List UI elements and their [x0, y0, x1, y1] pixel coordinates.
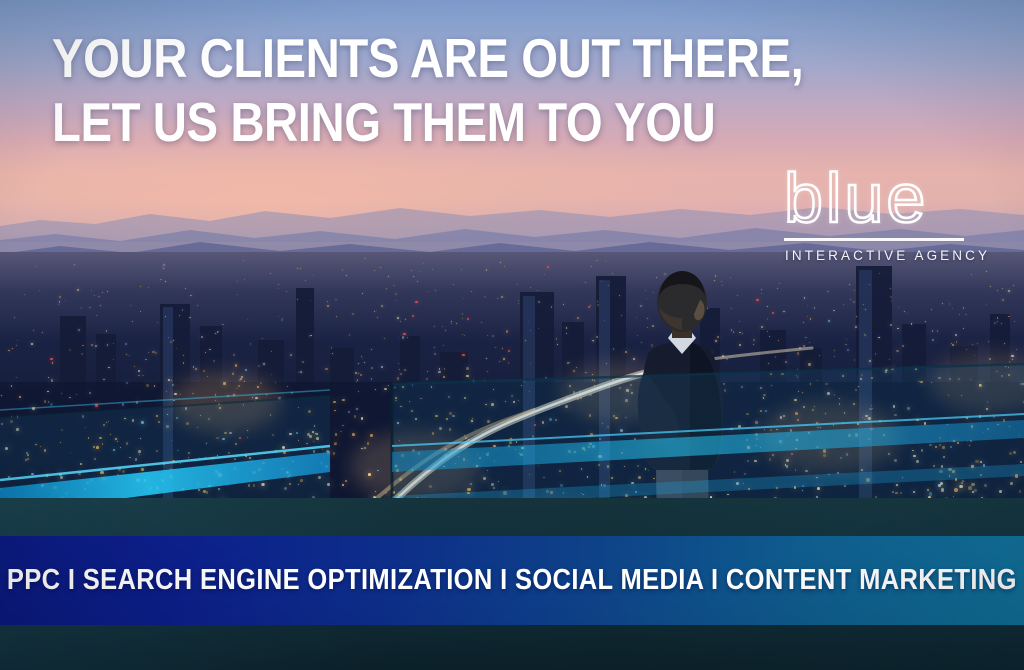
logo-wordmark: blue — [784, 163, 968, 233]
headline-line-1: YOUR CLIENTS ARE OUT THERE, — [52, 26, 688, 90]
logo-underline-rule — [784, 238, 964, 241]
services-banner: PPC I SEARCH ENGINE OPTIMIZATION I SOCIA… — [0, 536, 1024, 625]
headline-line-2: LET US BRING THEM TO YOU — [52, 90, 688, 154]
logo-tagline: INTERACTIVE AGENCY — [785, 248, 968, 263]
headline: YOUR CLIENTS ARE OUT THERE, LET US BRING… — [52, 26, 688, 154]
city-light-bloom — [560, 362, 680, 422]
city-light-bloom — [350, 432, 480, 502]
advertising-banner: YOUR CLIENTS ARE OUT THERE, LET US BRING… — [0, 0, 1024, 670]
city-light-bloom — [760, 402, 900, 472]
brand-logo[interactable]: blue INTERACTIVE AGENCY — [782, 163, 968, 263]
services-list-text: PPC I SEARCH ENGINE OPTIMIZATION I SOCIA… — [7, 564, 1017, 597]
